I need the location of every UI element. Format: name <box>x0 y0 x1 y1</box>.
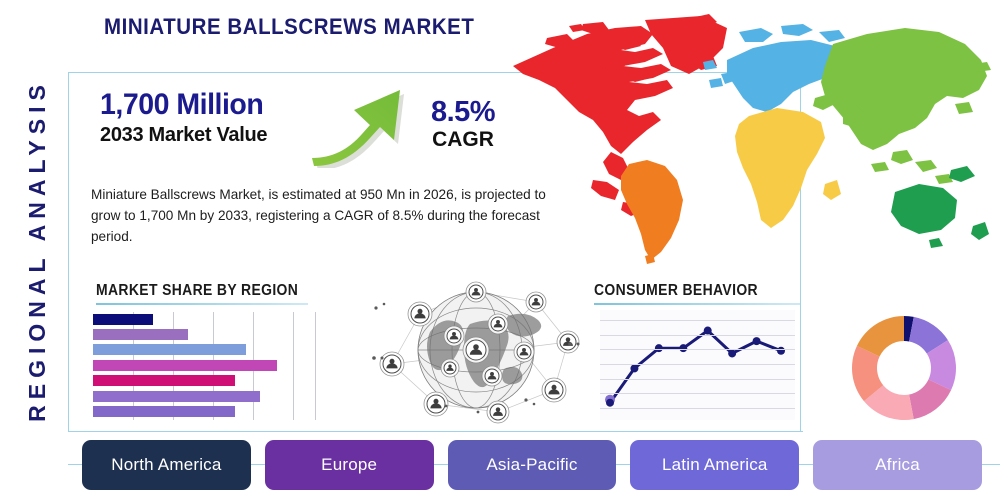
person-icon <box>490 372 494 376</box>
tab-connector <box>251 464 265 465</box>
person-icon <box>433 399 438 404</box>
bar-chart-bar <box>93 344 246 355</box>
region-tab-latin-america[interactable]: Latin America <box>630 440 799 490</box>
line-chart-gridlines <box>600 310 795 420</box>
growth-arrow-icon <box>308 84 418 168</box>
person-icon <box>522 348 526 352</box>
bar-chart-bar <box>93 375 235 386</box>
region-tab-north-america[interactable]: North America <box>82 440 251 490</box>
bar-gridline <box>315 312 316 420</box>
line-gridline <box>600 349 795 350</box>
infographic-root: REGIONAL ANALYSIS MINIATURE BALLSCREWS M… <box>0 0 1000 500</box>
bar-chart-bar <box>93 360 277 371</box>
side-label-text: REGIONAL ANALYSIS <box>24 79 51 422</box>
region-tab-africa[interactable]: Africa <box>813 440 982 490</box>
market-share-header: MARKET SHARE BY REGION <box>96 282 308 305</box>
person-icon <box>389 359 394 364</box>
bar-chart-bars <box>93 312 315 420</box>
world-map-icon <box>495 4 1000 266</box>
person-icon <box>474 288 478 292</box>
person-icon <box>551 385 556 390</box>
person-icon <box>452 332 456 336</box>
map-region-africa <box>735 108 841 228</box>
line-gridline <box>600 335 795 336</box>
line-gridline <box>600 408 795 409</box>
line-gridline <box>600 393 795 394</box>
person-icon <box>417 309 422 314</box>
market-share-header-rule <box>96 303 308 305</box>
map-region-north-america <box>513 14 727 222</box>
global-network-icon <box>358 272 594 428</box>
consumer-behavior-line-chart <box>600 310 795 420</box>
bar-chart-bar <box>93 406 235 417</box>
consumer-behavior-donut-chart <box>848 312 960 424</box>
person-icon <box>534 298 538 302</box>
side-label: REGIONAL ANALYSIS <box>10 0 64 500</box>
market-share-header-text: MARKET SHARE BY REGION <box>96 282 287 300</box>
line-gridline <box>600 320 795 321</box>
tab-connector <box>616 464 630 465</box>
consumer-behavior-header: CONSUMER BEHAVIOR <box>594 282 800 305</box>
person-icon <box>448 365 451 368</box>
market-share-bar-chart <box>93 312 315 420</box>
bar-chart-bar <box>93 329 188 340</box>
consumer-behavior-header-rule <box>594 303 800 305</box>
person-icon <box>566 337 570 341</box>
region-tab-asia-pacific[interactable]: Asia-Pacific <box>448 440 617 490</box>
person-icon <box>473 344 479 350</box>
person-icon <box>496 320 500 324</box>
region-tabs: North AmericaEuropeAsia-PacificLatin Ame… <box>82 440 982 490</box>
tab-connector <box>434 464 448 465</box>
region-tab-europe[interactable]: Europe <box>265 440 434 490</box>
tabs-right-rule <box>982 464 1000 465</box>
line-gridline <box>600 379 795 380</box>
tabs-left-rule <box>68 464 82 465</box>
tab-connector <box>799 464 813 465</box>
bar-chart-bar <box>93 314 153 325</box>
bar-chart-bar <box>93 391 260 402</box>
map-region-asia <box>813 28 991 184</box>
line-gridline <box>600 364 795 365</box>
consumer-behavior-header-text: CONSUMER BEHAVIOR <box>594 282 779 300</box>
person-icon <box>496 407 500 411</box>
page-title: MINIATURE BALLSCREWS MARKET <box>104 14 474 40</box>
